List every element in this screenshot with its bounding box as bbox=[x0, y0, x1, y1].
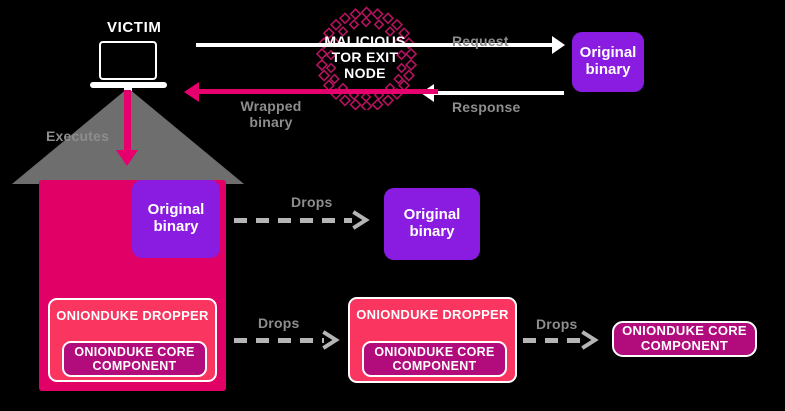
drops-arrow-2-head bbox=[322, 330, 342, 350]
executes-label: Executes bbox=[46, 128, 109, 144]
laptop-icon bbox=[96, 41, 160, 84]
box-original-binary-dropped: Original binary bbox=[384, 188, 480, 260]
victim-title: VICTIM bbox=[107, 19, 161, 36]
box-label: ONIONDUKE CORE COMPONENT bbox=[64, 345, 205, 373]
wrapped-binary-label: Wrapped binary bbox=[225, 98, 317, 130]
response-label: Response bbox=[452, 99, 521, 115]
box-label: ONIONDUKE CORE COMPONENT bbox=[364, 345, 505, 373]
response-arrow-shaft bbox=[434, 91, 564, 95]
drops-arrow-1-shaft bbox=[234, 218, 352, 223]
box-onionduke-core-final: ONIONDUKE CORE COMPONENT bbox=[612, 321, 757, 357]
box-label: ONIONDUKE CORE COMPONENT bbox=[614, 324, 755, 353]
box-onionduke-dropper-inside: ONIONDUKE DROPPER ONIONDUKE CORE COMPONE… bbox=[48, 298, 217, 382]
drops-arrow-2-shaft bbox=[234, 338, 324, 343]
box-label: Original binary bbox=[384, 207, 480, 241]
box-label: ONIONDUKE DROPPER bbox=[56, 309, 208, 324]
drops-arrow-3-head bbox=[581, 330, 601, 350]
box-label: Original binary bbox=[132, 202, 220, 236]
box-original-binary-server: Original binary bbox=[572, 32, 644, 92]
drops-label-1: Drops bbox=[291, 194, 332, 210]
drops-label-2: Drops bbox=[258, 315, 299, 331]
executes-arrow-head bbox=[116, 150, 138, 166]
box-onionduke-dropper-dropped: ONIONDUKE DROPPER ONIONDUKE CORE COMPONE… bbox=[348, 297, 517, 383]
executes-arrow-shaft bbox=[124, 90, 131, 152]
box-onionduke-core-dropped: ONIONDUKE CORE COMPONENT bbox=[362, 341, 507, 377]
box-label: ONIONDUKE DROPPER bbox=[356, 308, 508, 323]
request-arrow-head bbox=[552, 36, 565, 54]
tor-node-label: MALICIOUS TOR EXIT NODE bbox=[313, 6, 417, 110]
malicious-tor-exit-node: MALICIOUS TOR EXIT NODE bbox=[313, 6, 417, 110]
drops-arrow-3-shaft bbox=[523, 338, 583, 343]
drops-arrow-1-head bbox=[352, 210, 372, 230]
laptop-screen-icon bbox=[99, 41, 157, 80]
box-original-binary-inside: Original binary bbox=[132, 180, 220, 258]
box-onionduke-core-inside: ONIONDUKE CORE COMPONENT bbox=[62, 341, 207, 377]
diagram-canvas: VICTIM Executes bbox=[0, 0, 785, 411]
box-label: Original binary bbox=[572, 45, 644, 79]
drops-label-3: Drops bbox=[536, 316, 577, 332]
request-label: Request bbox=[452, 33, 509, 49]
wrapped-binary-arrow-head bbox=[184, 82, 199, 102]
